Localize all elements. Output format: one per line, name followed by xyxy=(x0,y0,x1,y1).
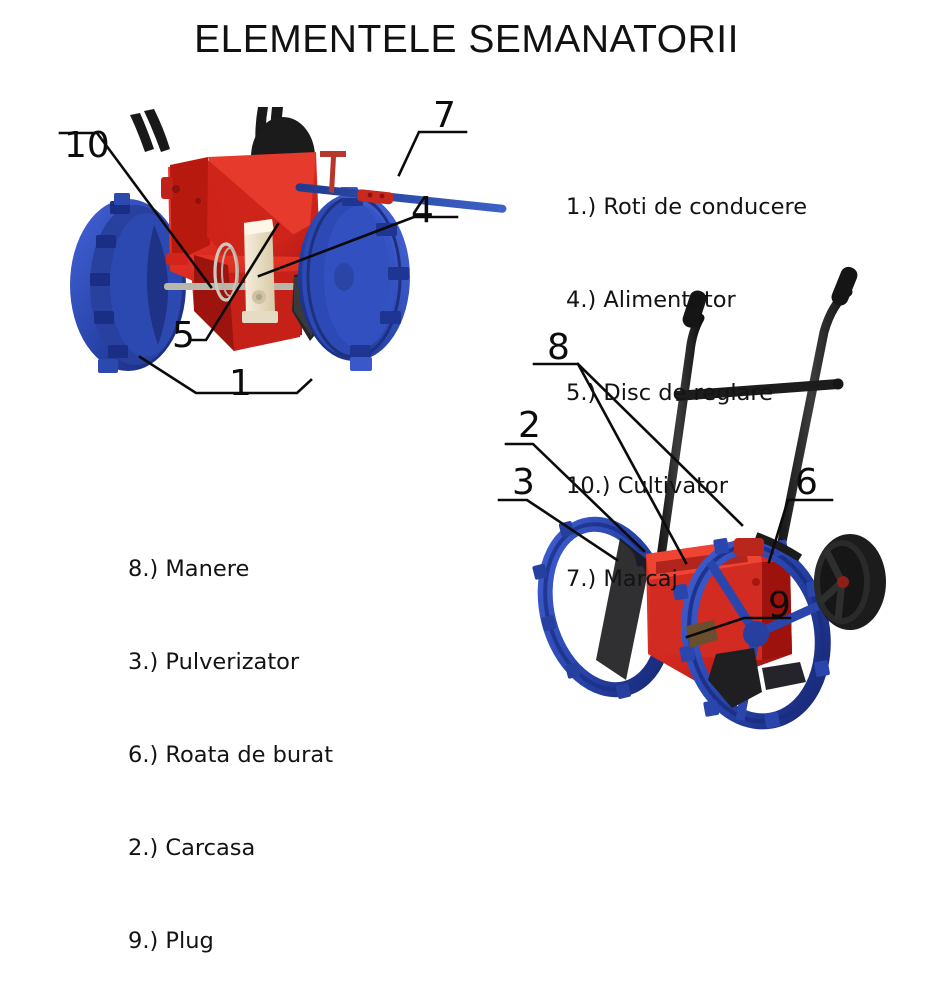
legend-right-item-3: 5.) Disc de reglare xyxy=(566,378,807,409)
callout-number-5: 5 xyxy=(172,318,195,354)
callout-number-4: 4 xyxy=(411,193,434,229)
callout-number-7: 7 xyxy=(433,98,456,134)
front-view-seeder-photo xyxy=(58,105,508,405)
legend-left-item-4: 2.) Carcasa xyxy=(128,833,333,864)
legend-left-item-2: 3.) Pulverizator xyxy=(128,647,333,678)
legend-left-item-3: 6.) Roata de burat xyxy=(128,740,333,771)
legend-right-item-4: 10.) Cultivator xyxy=(566,471,807,502)
legend-right-item-1: 1.) Roti de conducere xyxy=(566,192,807,223)
callout-number-10: 10 xyxy=(64,128,110,164)
callout-number-2: 2 xyxy=(518,408,541,444)
callout-number-1: 1 xyxy=(229,366,252,402)
callout-number-3: 3 xyxy=(512,465,535,501)
legend-left-item-5: 9.) Plug xyxy=(128,926,333,957)
legend-right: 1.) Roti de conducere 4.) Alimentator 5.… xyxy=(566,130,807,626)
legend-right-item-5: 7.) Marcaj xyxy=(566,564,807,595)
legend-left-item-1: 8.) Manere xyxy=(128,554,333,585)
page-title: ELEMENTELE SEMANATORII xyxy=(0,18,933,62)
legend-left: 8.) Manere 3.) Pulverizator 6.) Roata de… xyxy=(128,492,333,988)
legend-right-item-2: 4.) Alimentator xyxy=(566,285,807,316)
